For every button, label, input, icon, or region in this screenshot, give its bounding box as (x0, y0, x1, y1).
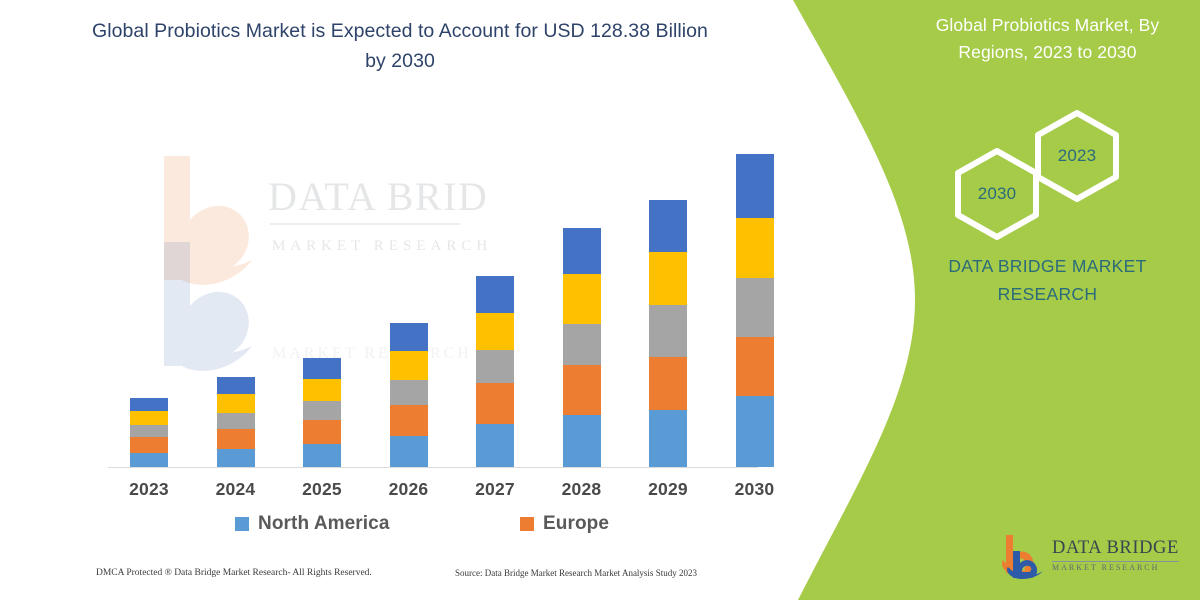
hexagon-badge-2030[interactable]: 2030 (953, 146, 1041, 242)
footer: DMCA Protected ® Data Bridge Market Rese… (0, 568, 800, 588)
bar-segment-series-4 (130, 411, 168, 425)
infographic-page: Global Probiotics Market is Expected to … (0, 0, 1200, 600)
bar-2023[interactable] (130, 398, 168, 467)
panel-brand-text: DATA BRIDGE MARKET RESEARCH (905, 252, 1190, 308)
bar-2028[interactable] (563, 228, 601, 467)
x-axis-label-2030: 2030 (717, 479, 793, 500)
bar-segment-series-4 (563, 274, 601, 324)
logo-text: DATA BRIDGE MARKET RESEARCH (1052, 539, 1179, 572)
bar-segment-series-3 (736, 278, 774, 337)
bar-segment-north-america (130, 453, 168, 467)
bar-segment-north-america (649, 410, 687, 467)
hexagon-label: 2030 (953, 146, 1041, 242)
bar-segment-north-america (476, 424, 514, 467)
bar-segment-north-america (390, 436, 428, 467)
legend-item-europe[interactable]: Europe (520, 513, 609, 535)
bar-segment-series-3 (303, 401, 341, 420)
bar-segment-series-3 (130, 425, 168, 437)
bar-segment-series-4 (390, 351, 428, 380)
bar-segment-europe (130, 437, 168, 453)
bar-segment-north-america (217, 449, 255, 467)
x-axis-labels: 20232024202520262027202820292030 (0, 479, 800, 505)
bar-segment-series-3 (649, 305, 687, 357)
bar-segment-series-4 (303, 379, 341, 401)
bar-2027[interactable] (476, 276, 514, 467)
hexagon-badge-2023[interactable]: 2023 (1033, 108, 1121, 204)
bar-2026[interactable] (390, 323, 428, 467)
logo-tagline: MARKET RESEARCH (1052, 564, 1179, 573)
bar-segment-series-5 (649, 200, 687, 252)
bar-segment-series-4 (736, 218, 774, 278)
bar-segment-north-america (736, 396, 774, 467)
chart-legend: North America Europe (0, 513, 800, 543)
bar-segment-series-4 (476, 313, 514, 350)
x-axis-label-2029: 2029 (630, 479, 706, 500)
bar-segment-series-5 (390, 323, 428, 351)
bar-segment-series-4 (217, 394, 255, 413)
x-axis-line (108, 467, 758, 468)
bar-segment-series-5 (476, 276, 514, 313)
source-text: Source: Data Bridge Market Research Mark… (455, 568, 697, 578)
bar-segment-series-4 (649, 252, 687, 305)
x-axis-label-2024: 2024 (198, 479, 274, 500)
hexagon-group: 2023 2030 (925, 108, 1185, 238)
bar-2030[interactable] (736, 154, 774, 467)
bar-segment-europe (649, 357, 687, 410)
copyright-text: DMCA Protected ® Data Bridge Market Rese… (96, 568, 372, 578)
logo-name: DATA BRIDGE (1052, 539, 1179, 558)
bar-segment-series-5 (217, 377, 255, 394)
plot-area: 20232024202520262027202820292030 North A… (0, 0, 800, 600)
hexagon-label: 2023 (1033, 108, 1121, 204)
x-axis-label-2028: 2028 (544, 479, 620, 500)
bar-2025[interactable] (303, 358, 341, 467)
legend-swatch-icon (520, 517, 534, 531)
x-axis-label-2025: 2025 (284, 479, 360, 500)
bar-segment-north-america (303, 444, 341, 467)
x-axis-label-2023: 2023 (111, 479, 187, 500)
bar-segment-europe (390, 405, 428, 436)
bar-segment-europe (476, 383, 514, 424)
panel-title: Global Probiotics Market, By Regions, 20… (905, 12, 1190, 66)
chart-region: Global Probiotics Market is Expected to … (0, 0, 800, 600)
bar-segment-series-5 (130, 398, 168, 411)
bar-segment-europe (217, 429, 255, 449)
bar-segment-series-5 (303, 358, 341, 379)
bar-segment-europe (563, 365, 601, 415)
bar-segment-series-3 (563, 324, 601, 365)
brand-logo: DATA BRIDGE MARKET RESEARCH (1000, 530, 1200, 582)
legend-item-north-america[interactable]: North America (235, 513, 390, 535)
x-axis-label-2026: 2026 (371, 479, 447, 500)
bar-segment-series-3 (476, 350, 514, 383)
legend-swatch-icon (235, 517, 249, 531)
bar-segment-north-america (563, 415, 601, 467)
logo-divider (1052, 561, 1179, 562)
bar-2024[interactable] (217, 377, 255, 467)
bar-segment-series-5 (563, 228, 601, 274)
bar-2029[interactable] (649, 200, 687, 467)
bar-segment-europe (736, 337, 774, 396)
data-bridge-logo-icon (1000, 533, 1046, 579)
panel-content: Global Probiotics Market, By Regions, 20… (905, 0, 1200, 600)
legend-label: North America (258, 513, 390, 535)
bar-segment-series-3 (390, 380, 428, 405)
bar-segment-europe (303, 420, 341, 444)
bar-segment-series-3 (217, 413, 255, 429)
bar-segment-series-5 (736, 154, 774, 218)
x-axis-label-2027: 2027 (457, 479, 533, 500)
legend-label: Europe (543, 513, 609, 535)
